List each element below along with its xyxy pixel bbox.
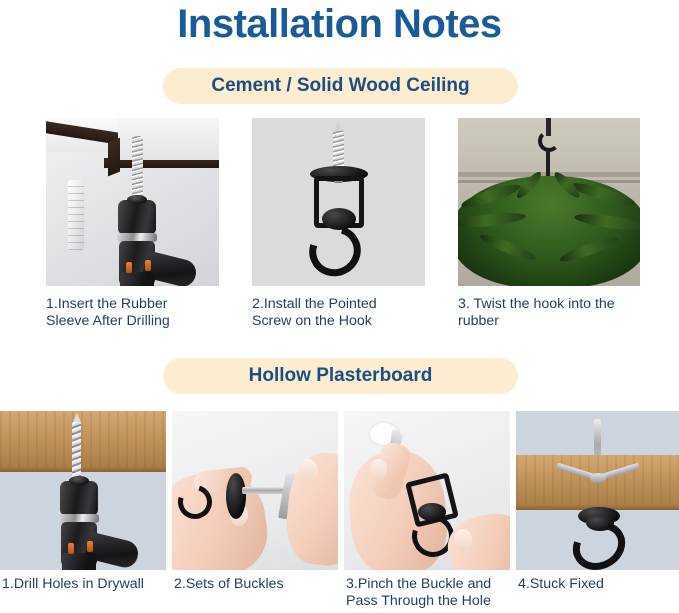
step-caption-pinch-the-buckle: 3.Pinch the Buckle and Pass Through the … <box>346 576 508 610</box>
step-caption-sets-of-buckles: 2.Sets of Buckles <box>174 576 336 593</box>
step-image-insert-rubber-sleeve <box>46 118 219 286</box>
hook-body <box>226 473 246 519</box>
step-image-pointed-screw-on-hook <box>252 118 425 286</box>
section-badge-hollow-plasterboard: Hollow Plasterboard <box>163 358 518 394</box>
installation-notes-page: Installation Notes Cement / Solid Wood C… <box>0 0 679 613</box>
step-caption-pointed-screw-on-hook: 2.Install the Pointed Screw on the Hook <box>252 296 412 330</box>
step-image-twist-hook-into-rubber <box>458 118 640 286</box>
step-caption-drill-holes-in-drywall: 1.Drill Holes in Drywall <box>2 576 164 593</box>
step-caption-twist-hook-into-rubber: 3. Twist the hook into the rubber <box>458 296 648 330</box>
hook-curve <box>564 513 633 570</box>
section-badge-cement-solid-wood-ceiling: Cement / Solid Wood Ceiling <box>163 68 518 104</box>
rubber-sleeve-anchor <box>68 180 84 252</box>
step-image-stuck-fixed <box>516 411 679 570</box>
page-title: Installation Notes <box>0 2 679 47</box>
twist-drill-bit <box>72 421 81 479</box>
step-caption-insert-rubber-sleeve: 1.Insert the Rubber Sleeve After Drillin… <box>46 296 206 330</box>
step-image-drill-holes-in-drywall <box>0 411 166 570</box>
step-caption-stuck-fixed: 4.Stuck Fixed <box>518 576 678 593</box>
wood-screw <box>132 136 143 198</box>
pointed-screw <box>333 130 344 170</box>
step-image-sets-of-buckles <box>172 411 338 570</box>
toggle-hub <box>590 473 606 483</box>
step-image-pinch-the-buckle <box>344 411 510 570</box>
